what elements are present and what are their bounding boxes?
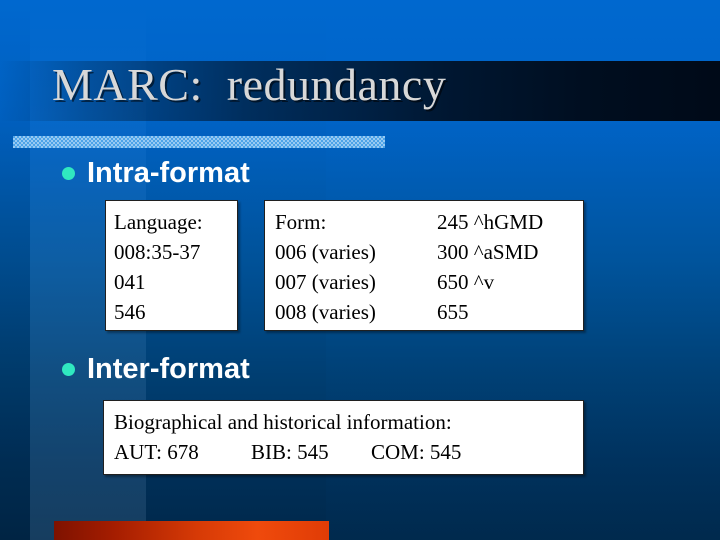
language-line-1: Language: (114, 207, 237, 237)
form-row-4-left: 008 (varies) (275, 297, 437, 327)
bullet-item-intra-format: Intra-format (62, 156, 250, 190)
form-row: Form: 245 ^hGMD (275, 207, 583, 237)
form-row: 006 (varies) 300 ^aSMD (275, 237, 583, 267)
slide: MARC: redundancy Intra-format Language: … (0, 0, 720, 540)
form-row-2-right: 300 ^aSMD (437, 237, 583, 267)
box-biographical: Biographical and historical information:… (103, 400, 584, 475)
box-form: Form: 245 ^hGMD 006 (varies) 300 ^aSMD 0… (264, 200, 584, 331)
page-title: MARC: redundancy (52, 57, 692, 113)
form-row-1-left: Form: (275, 207, 437, 237)
title-underline-rule (13, 136, 385, 148)
form-row: 007 (varies) 650 ^v (275, 267, 583, 297)
language-line-2: 008:35-37 (114, 237, 237, 267)
biographical-heading: Biographical and historical information: (114, 407, 583, 437)
bullet-dot-icon (62, 167, 75, 180)
bullet-item-inter-format: Inter-format (62, 352, 250, 386)
bullet-label-intra-format: Intra-format (87, 156, 250, 190)
biographical-entries: AUT: 678 BIB: 545 COM: 545 (114, 437, 583, 467)
form-row-3-right: 650 ^v (437, 267, 583, 297)
biographical-entry-bib: BIB: 545 (251, 437, 371, 467)
biographical-entry-com: COM: 545 (371, 437, 583, 467)
language-line-3: 041 (114, 267, 237, 297)
accent-bar (54, 521, 329, 540)
form-row-4-right: 655 (437, 297, 583, 327)
language-line-4: 546 (114, 297, 237, 327)
form-row-1-right: 245 ^hGMD (437, 207, 583, 237)
form-row-2-left: 006 (varies) (275, 237, 437, 267)
biographical-entry-aut: AUT: 678 (114, 437, 251, 467)
form-row: 008 (varies) 655 (275, 297, 583, 327)
form-row-3-left: 007 (varies) (275, 267, 437, 297)
box-language: Language: 008:35-37 041 546 (105, 200, 238, 331)
bullet-dot-icon (62, 363, 75, 376)
bullet-label-inter-format: Inter-format (87, 352, 250, 386)
